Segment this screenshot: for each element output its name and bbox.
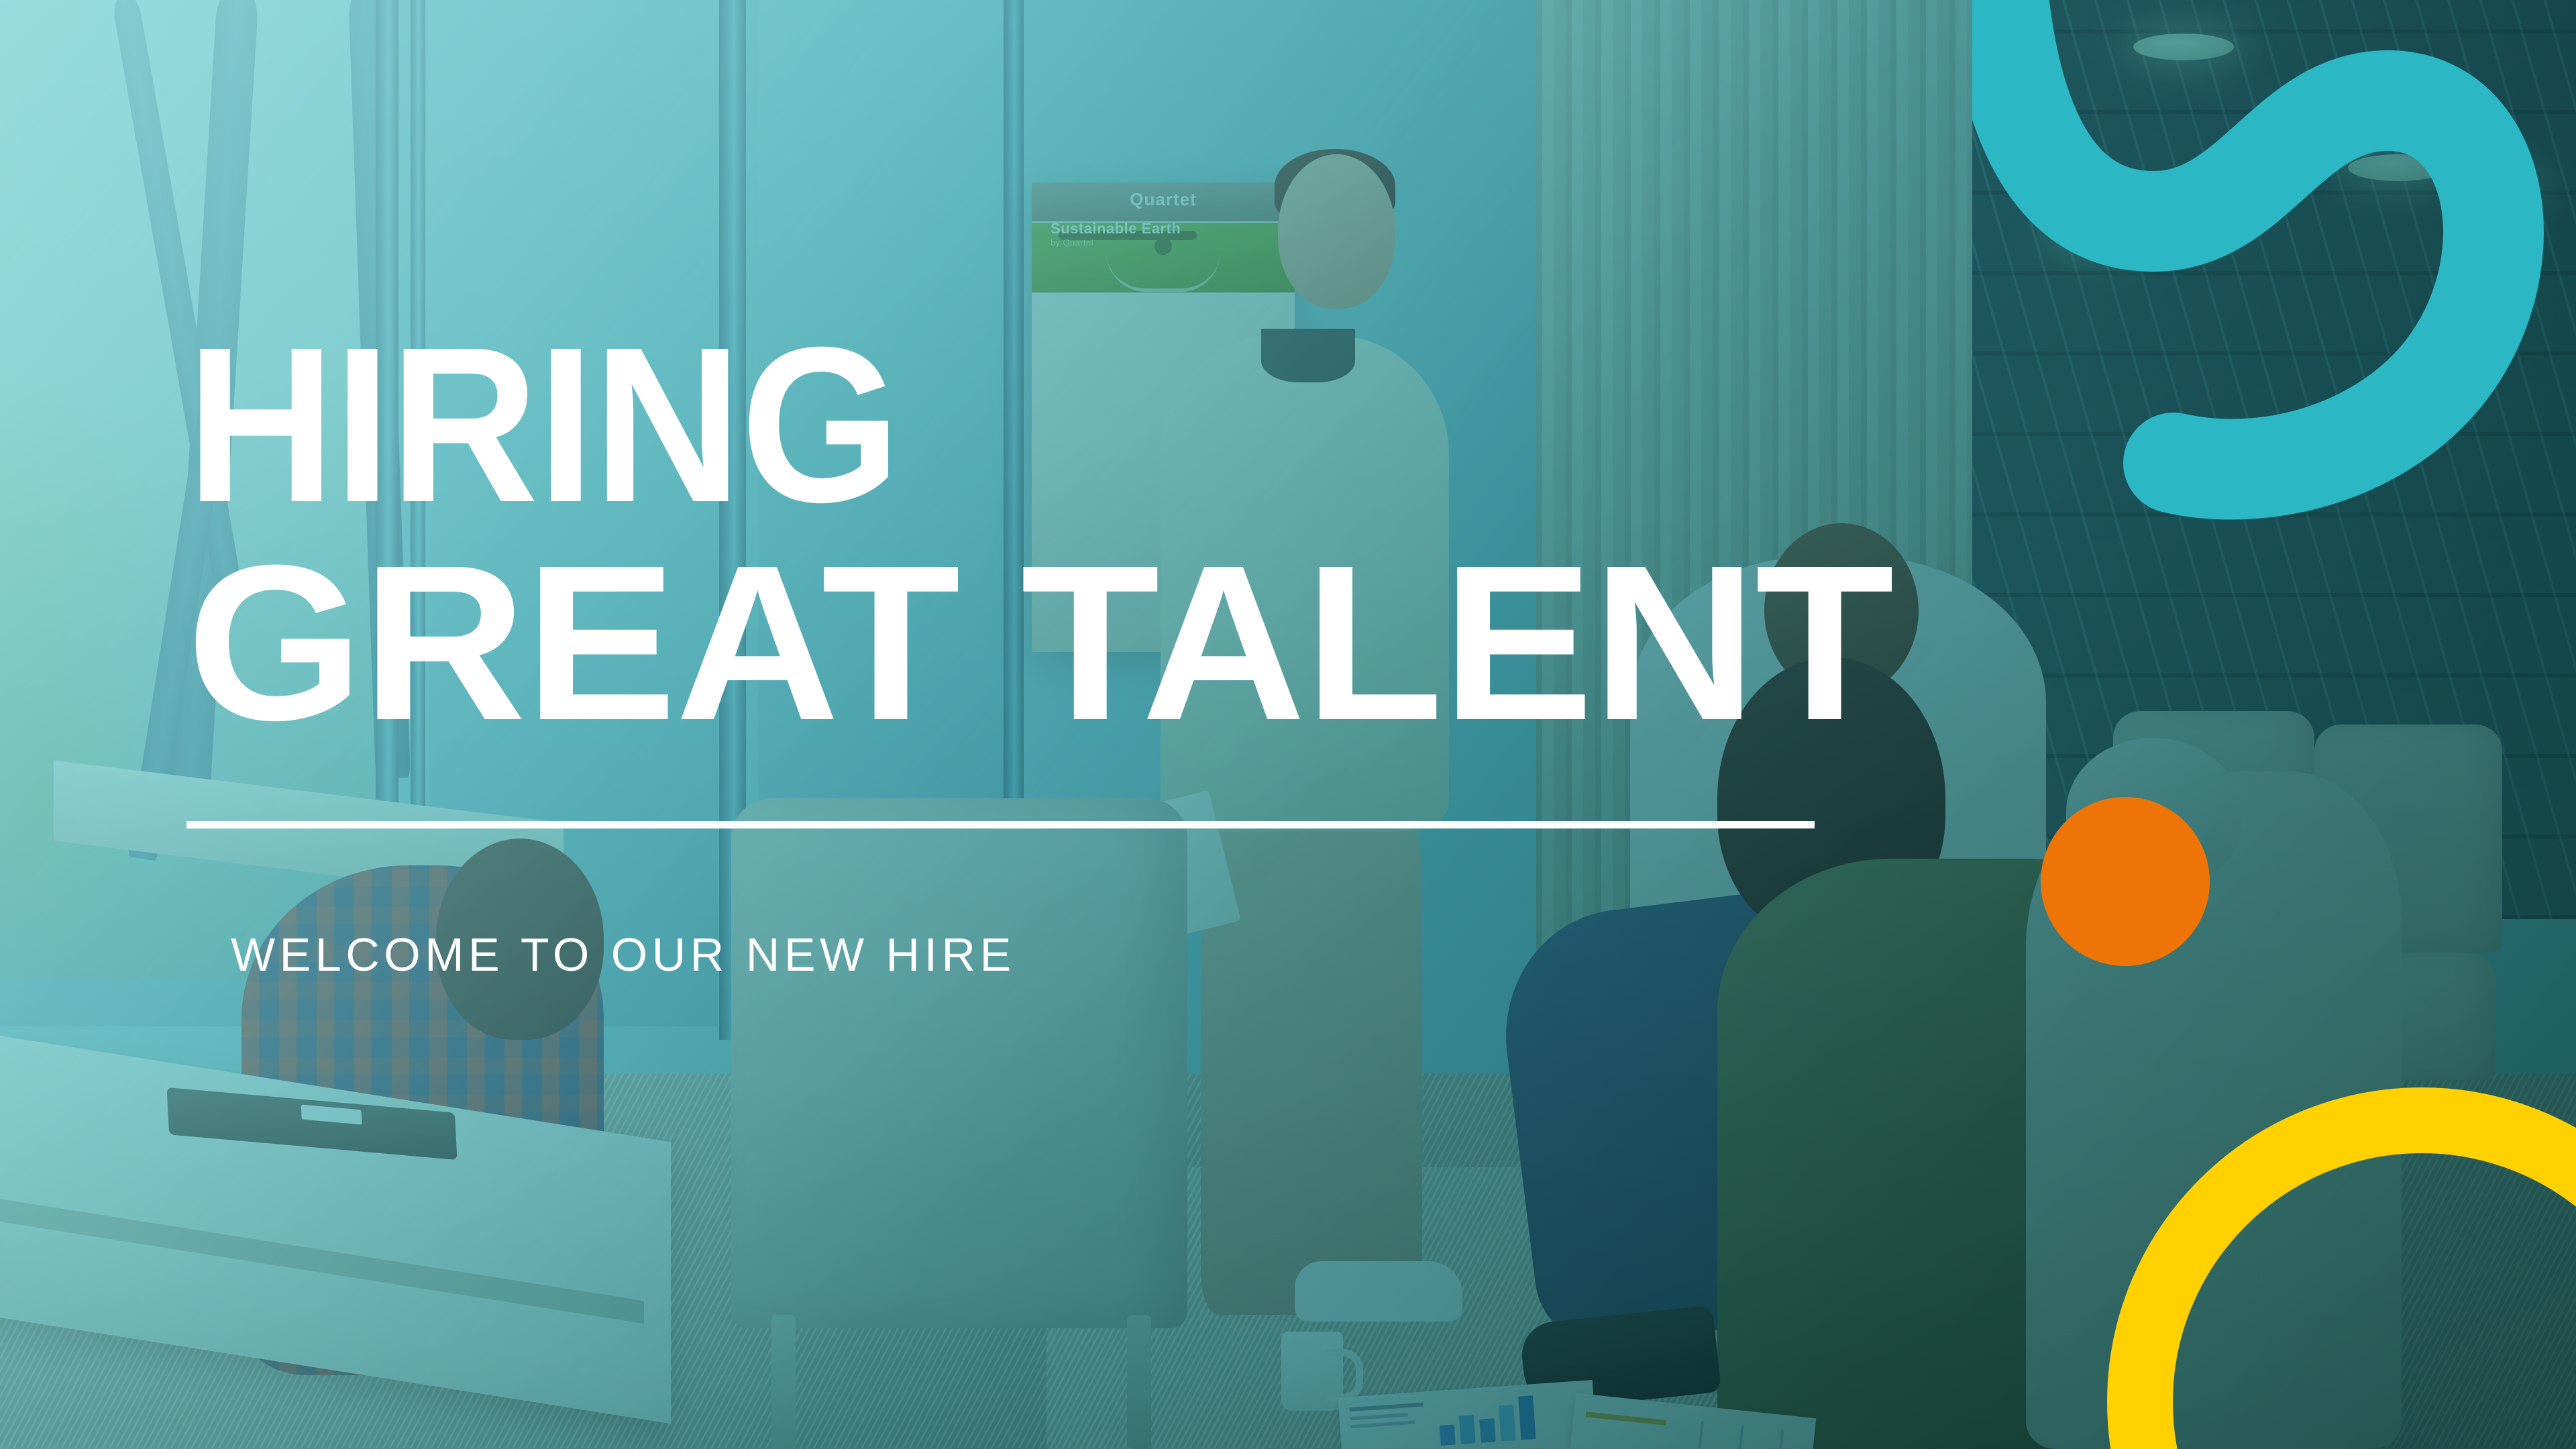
hiring-hero-banner: Quartet Sustainable Earth by Quartet [0, 0, 2576, 1449]
headline-line-1: HIRING [186, 315, 1746, 533]
headline-block: HIRING GREAT TALENT WELCOME TO OUR NEW H… [186, 315, 1864, 981]
divider-rule [186, 821, 1815, 828]
subtitle: WELCOME TO OUR NEW HIRE [231, 928, 1864, 981]
headline-line-2: GREAT TALENT [186, 533, 1910, 751]
page-title: HIRING GREAT TALENT [186, 315, 1746, 751]
